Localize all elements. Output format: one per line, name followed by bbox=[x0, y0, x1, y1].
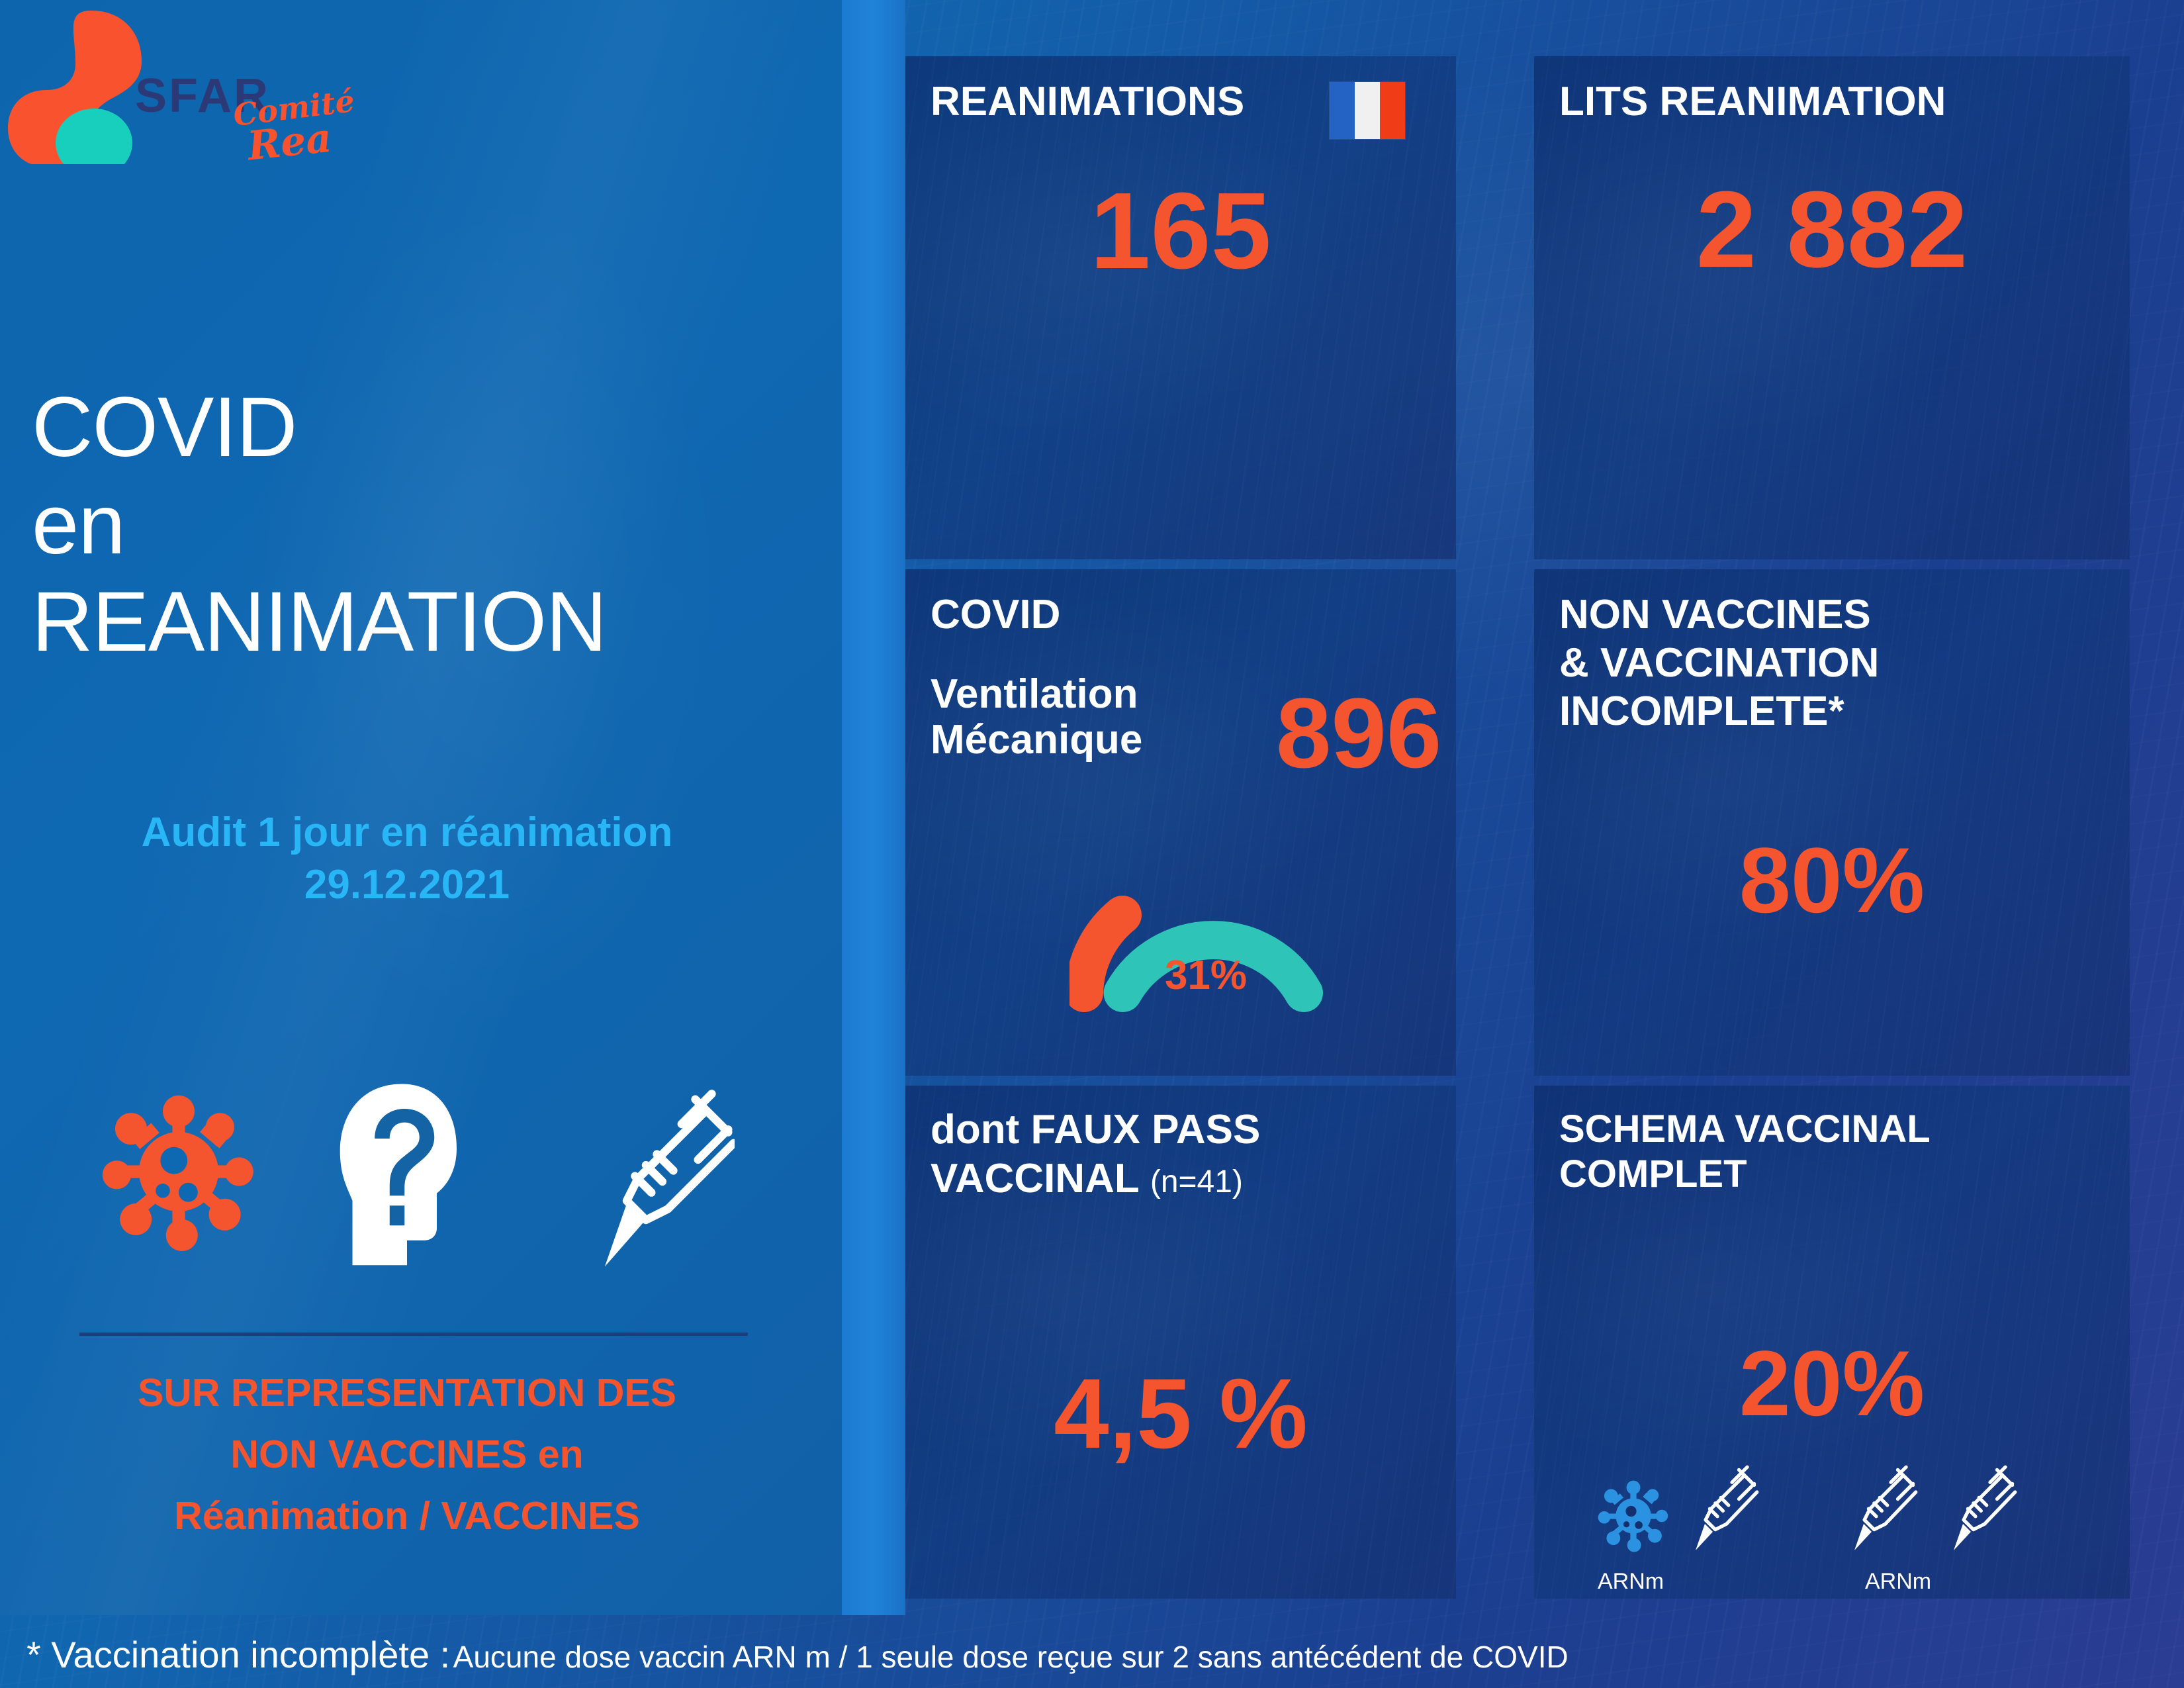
card-faux-pass-title-line-1: dont FAUX PASS bbox=[931, 1105, 1447, 1154]
virus-icon bbox=[99, 1092, 258, 1254]
card-texture bbox=[1534, 56, 2130, 559]
card-faux-pass-n-label: (n=41) bbox=[1150, 1164, 1243, 1199]
card-non-vaccines: NON VACCINES & VACCINATION INCOMPLETE* 8… bbox=[1534, 569, 2130, 1076]
card-schema-vaccinal-complet: SCHEMA VACCINAL COMPLET 20% bbox=[1534, 1086, 2130, 1599]
page-title: COVID en REANIMATION bbox=[32, 379, 813, 671]
card-faux-pass-title: dont FAUX PASS VACCINAL (n=41) bbox=[931, 1105, 1447, 1204]
card-faux-pass-title-line-2-wrap: VACCINAL (n=41) bbox=[931, 1154, 1447, 1203]
card-covid-ventilation-mecanique: COVID Ventilation Mécanique 896 31% bbox=[905, 569, 1456, 1076]
head-question-icon bbox=[331, 1079, 483, 1281]
card-reanimations-value: 165 bbox=[905, 177, 1456, 285]
card-reanimations-title: REANIMATIONS bbox=[931, 77, 1244, 126]
schema-icon-row: ARNm ARNm bbox=[1534, 1463, 2130, 1595]
callout-line-3: Réanimation / VACCINES bbox=[13, 1485, 801, 1547]
audit-subtitle-text: Audit 1 jour en réanimation bbox=[0, 806, 814, 859]
card-lits-value: 2 882 bbox=[1534, 175, 2130, 284]
callout-line-1: SUR REPRESENTATION DES bbox=[13, 1362, 801, 1424]
card-covid-label: Ventilation Mécanique bbox=[931, 671, 1142, 763]
schema-group-two-syringes bbox=[1845, 1463, 2057, 1572]
left-panel: SFAR Comité Rea COVID en REANIMATION Aud… bbox=[0, 0, 842, 1615]
card-covid-title: COVID bbox=[931, 590, 1060, 639]
schema-group-virus-syringe bbox=[1591, 1463, 1790, 1572]
callout-line-2: NON VACCINES en bbox=[13, 1424, 801, 1485]
syringe-icon bbox=[596, 1086, 735, 1281]
card-covid-label-line-1: Ventilation bbox=[931, 671, 1142, 717]
card-faux-pass-vaccinal: dont FAUX PASS VACCINAL (n=41) 4,5 % bbox=[905, 1086, 1456, 1599]
card-reanimations: REANIMATIONS 165 bbox=[905, 56, 1456, 559]
card-non-vaccines-value: 80% bbox=[1534, 834, 2130, 927]
page-title-line-3: REANIMATION bbox=[32, 573, 813, 671]
footnote-rest: Aucune dose vaccin ARN m / 1 seule dose … bbox=[453, 1640, 1569, 1674]
left-icon-row bbox=[40, 1079, 781, 1291]
card-schema-title-line-1: SCHEMA VACCINAL bbox=[1559, 1107, 1931, 1152]
callout-text: SUR REPRESENTATION DES NON VACCINES en R… bbox=[13, 1362, 801, 1548]
card-non-vaccines-title: NON VACCINES & VACCINATION INCOMPLETE* bbox=[1559, 590, 1879, 735]
card-lits-reanimation: LITS REANIMATION 2 882 bbox=[1534, 56, 2130, 559]
card-faux-pass-title-line-2: VACCINAL bbox=[931, 1156, 1139, 1201]
schema-caption-2: ARNm bbox=[1865, 1569, 1931, 1595]
card-non-vaccines-title-line-1: NON VACCINES bbox=[1559, 590, 1879, 639]
panel-edge-strip bbox=[842, 0, 905, 1615]
footnote: * Vaccination incomplète : Aucune dose v… bbox=[26, 1633, 1569, 1676]
sfar-logo: SFAR Comité Rea bbox=[8, 5, 379, 164]
rea-script-text: Rea bbox=[246, 115, 334, 170]
ventilation-gauge-label: 31% bbox=[1069, 952, 1342, 999]
french-flag-icon bbox=[1329, 81, 1406, 140]
card-non-vaccines-title-line-3: INCOMPLETE* bbox=[1559, 687, 1879, 735]
card-lits-title: LITS REANIMATION bbox=[1559, 77, 1946, 126]
audit-subtitle: Audit 1 jour en réanimation 29.12.2021 bbox=[0, 806, 814, 912]
card-schema-title: SCHEMA VACCINAL COMPLET bbox=[1559, 1107, 1931, 1197]
audit-date: 29.12.2021 bbox=[0, 859, 814, 911]
page-title-line-2: en bbox=[32, 476, 813, 573]
card-faux-pass-value: 4,5 % bbox=[905, 1364, 1456, 1463]
card-schema-value: 20% bbox=[1534, 1337, 2130, 1430]
card-covid-label-line-2: Mécanique bbox=[931, 717, 1142, 763]
infographic-poster: SFAR Comité Rea COVID en REANIMATION Aud… bbox=[0, 0, 2184, 1688]
page-title-line-1: COVID bbox=[32, 379, 813, 476]
card-non-vaccines-title-line-2: & VACCINATION bbox=[1559, 639, 1879, 687]
card-schema-title-line-2: COMPLET bbox=[1559, 1152, 1931, 1197]
divider bbox=[79, 1333, 748, 1336]
card-covid-value: 896 bbox=[1276, 683, 1441, 782]
footnote-strong: * Vaccination incomplète : bbox=[26, 1634, 450, 1675]
schema-caption-1: ARNm bbox=[1598, 1569, 1664, 1595]
